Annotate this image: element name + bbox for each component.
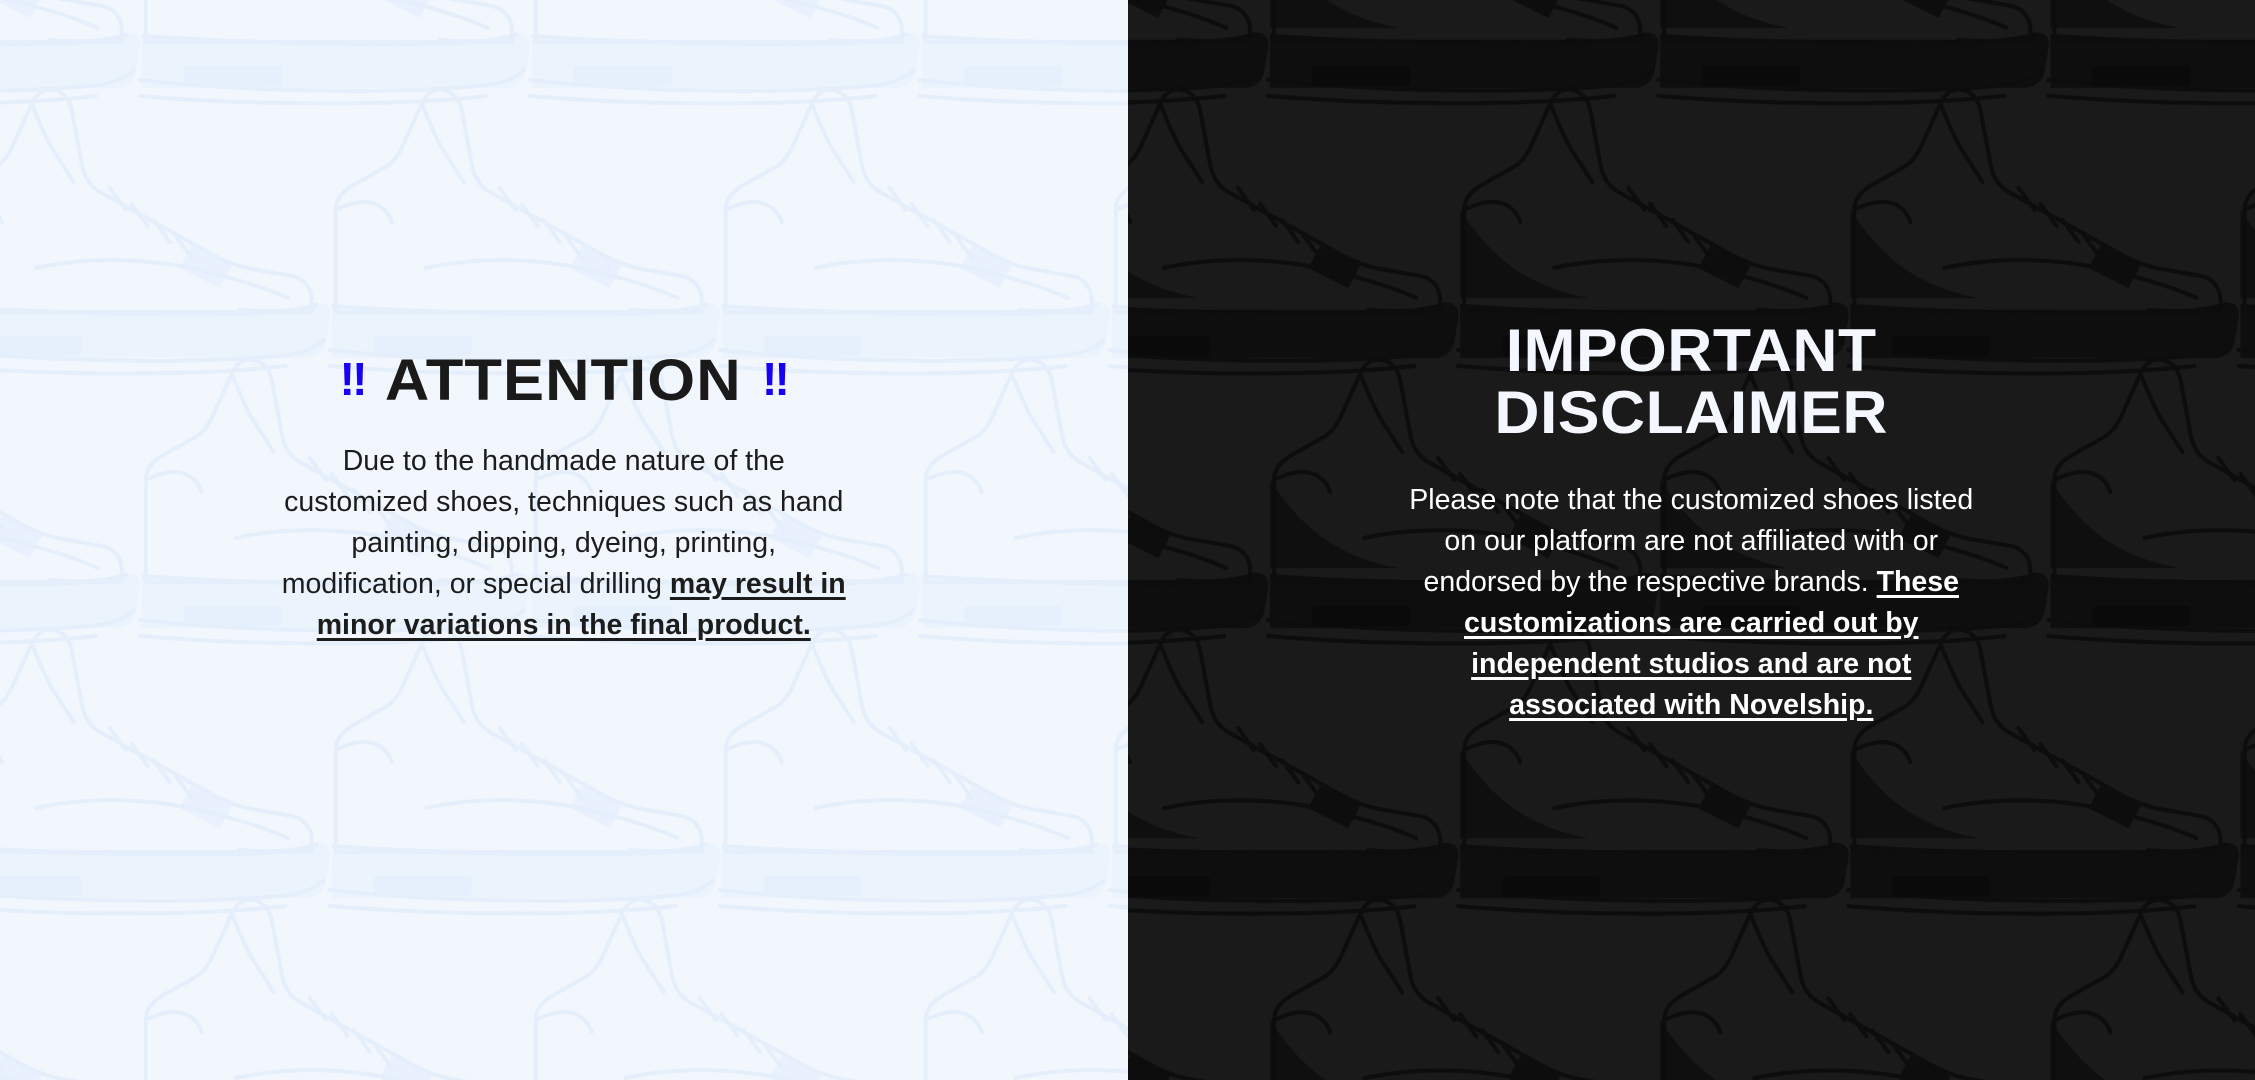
disclaimer-content: IMPORTANT DISCLAIMER Please note that th… <box>1128 0 2255 726</box>
disclaimer-panel: IMPORTANT DISCLAIMER Please note that th… <box>1128 0 2255 1080</box>
double-exclamation-left-icon: ‼ <box>340 356 366 402</box>
double-exclamation-right-icon: ‼ <box>762 356 788 402</box>
disclaimer-heading-line1: IMPORTANT <box>1495 320 1888 382</box>
attention-content: ‼ ATTENTION ‼ Due to the handmade nature… <box>0 0 1128 646</box>
attention-heading-text: ATTENTION <box>385 352 742 410</box>
attention-panel: ‼ ATTENTION ‼ Due to the handmade nature… <box>0 0 1128 1080</box>
disclaimer-banner: ‼ ATTENTION ‼ Due to the handmade nature… <box>0 0 2255 1080</box>
attention-body: Due to the handmade nature of the custom… <box>279 441 849 646</box>
attention-heading: ‼ ATTENTION ‼ <box>340 352 788 410</box>
disclaimer-heading: IMPORTANT DISCLAIMER <box>1495 320 1888 444</box>
disclaimer-body: Please note that the customized shoes li… <box>1401 480 1981 726</box>
disclaimer-heading-line2: DISCLAIMER <box>1495 382 1888 444</box>
